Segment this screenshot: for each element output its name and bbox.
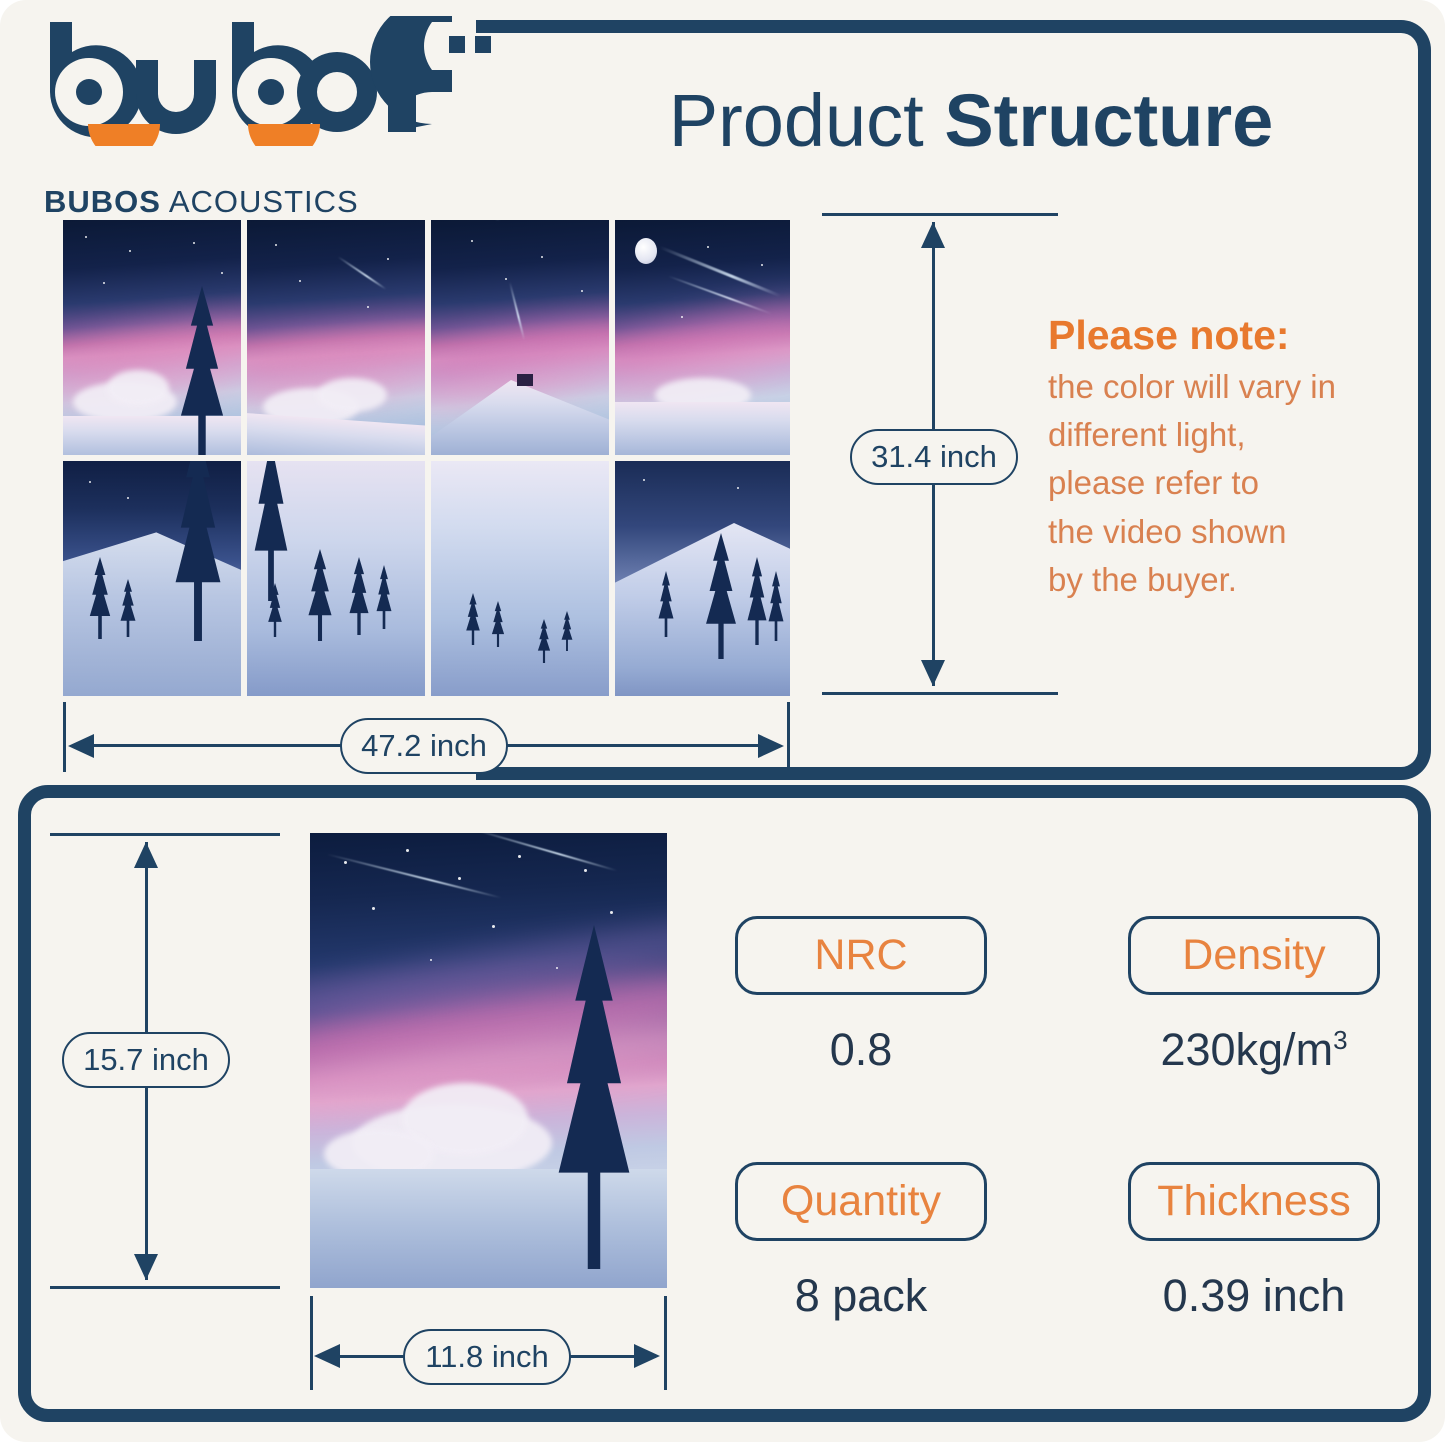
spec-value-quantity-text: 8 pack — [795, 1270, 928, 1321]
art-panel-2 — [247, 220, 425, 455]
single-width-arrow-right-icon — [634, 1344, 660, 1368]
spec-value-thickness: 0.39 inch — [1128, 1273, 1380, 1318]
spec-card-nrc: NRC 0.8 — [735, 916, 987, 1072]
spec-value-thickness-text: 0.39 inch — [1163, 1270, 1346, 1321]
single-height-ext-line-bottom — [50, 1286, 280, 1289]
single-width-ext-line-left — [310, 1296, 313, 1390]
spec-value-density-text: 230kg/m — [1160, 1024, 1333, 1075]
page-title-bold: Structure — [944, 79, 1273, 162]
height-ext-line-bottom — [822, 692, 1058, 695]
width-ext-line-right — [787, 702, 790, 772]
brand-name: BUBOS ACOUSTICS — [44, 184, 359, 220]
spec-label-quantity: Quantity — [735, 1162, 987, 1241]
logo-dash-1 — [449, 36, 465, 53]
single-panel-art — [310, 833, 667, 1288]
spec-value-density-sup: 3 — [1333, 1025, 1347, 1055]
art-panel-7 — [431, 461, 609, 696]
single-height-dimension-label: 15.7 inch — [62, 1032, 230, 1088]
art-panel-3 — [431, 220, 609, 455]
single-width-dimension-label: 11.8 inch — [403, 1329, 571, 1385]
height-arrow-up-icon — [921, 222, 945, 248]
spec-card-thickness: Thickness 0.39 inch — [1128, 1162, 1380, 1318]
please-note-block: Please note: the color will vary in diff… — [1048, 312, 1408, 604]
spec-label-thickness: Thickness — [1128, 1162, 1380, 1241]
art-panel-6 — [247, 461, 425, 696]
height-arrow-down-icon — [921, 660, 945, 686]
note-line-5: by the buyer. — [1048, 556, 1408, 604]
please-note-title: Please note: — [1048, 312, 1408, 359]
spec-value-nrc: 0.8 — [735, 1027, 987, 1072]
brand-logo: BUBOS ACOUSTICS — [22, 16, 492, 206]
single-height-arrow-down-icon — [134, 1254, 158, 1280]
bubos-wordmark-icon — [32, 16, 452, 146]
eight-panel-art-grid — [63, 220, 790, 696]
brand-name-acoustics: ACOUSTICS — [169, 184, 359, 219]
spec-card-quantity: Quantity 8 pack — [735, 1162, 987, 1318]
single-height-ext-line-top — [50, 833, 280, 836]
art-panel-8 — [615, 461, 790, 696]
single-width-arrow-left-icon — [314, 1344, 340, 1368]
width-dimension-label: 47.2 inch — [340, 718, 508, 774]
note-line-4: the video shown — [1048, 508, 1408, 556]
bottom-section-frame — [18, 785, 1431, 1422]
width-arrow-right-icon — [758, 734, 784, 758]
single-height-arrow-up-icon — [134, 842, 158, 868]
brand-name-bubos: BUBOS — [44, 184, 161, 219]
single-width-ext-line-right — [664, 1296, 667, 1390]
note-line-2: different light, — [1048, 411, 1408, 459]
please-note-body: the color will vary in different light, … — [1048, 363, 1408, 604]
page-title-light: Product — [669, 79, 924, 162]
spec-value-quantity: 8 pack — [735, 1273, 987, 1318]
width-ext-line-left — [63, 702, 66, 772]
product-structure-infographic: BUBOS ACOUSTICS Product Structure — [0, 0, 1445, 1442]
spec-label-density: Density — [1128, 916, 1380, 995]
art-panel-4 — [615, 220, 790, 455]
note-line-3: please refer to — [1048, 459, 1408, 507]
art-panel-1 — [63, 220, 241, 455]
spec-value-density: 230kg/m3 — [1128, 1027, 1380, 1072]
spec-card-density: Density 230kg/m3 — [1128, 916, 1380, 1072]
note-line-1: the color will vary in — [1048, 363, 1408, 411]
height-ext-line-top — [822, 213, 1058, 216]
spec-value-nrc-text: 0.8 — [830, 1024, 893, 1075]
art-panel-5 — [63, 461, 241, 696]
spec-label-nrc: NRC — [735, 916, 987, 995]
page-title: Product Structure — [556, 84, 1386, 158]
width-arrow-left-icon — [68, 734, 94, 758]
height-dimension-label: 31.4 inch — [850, 429, 1018, 485]
